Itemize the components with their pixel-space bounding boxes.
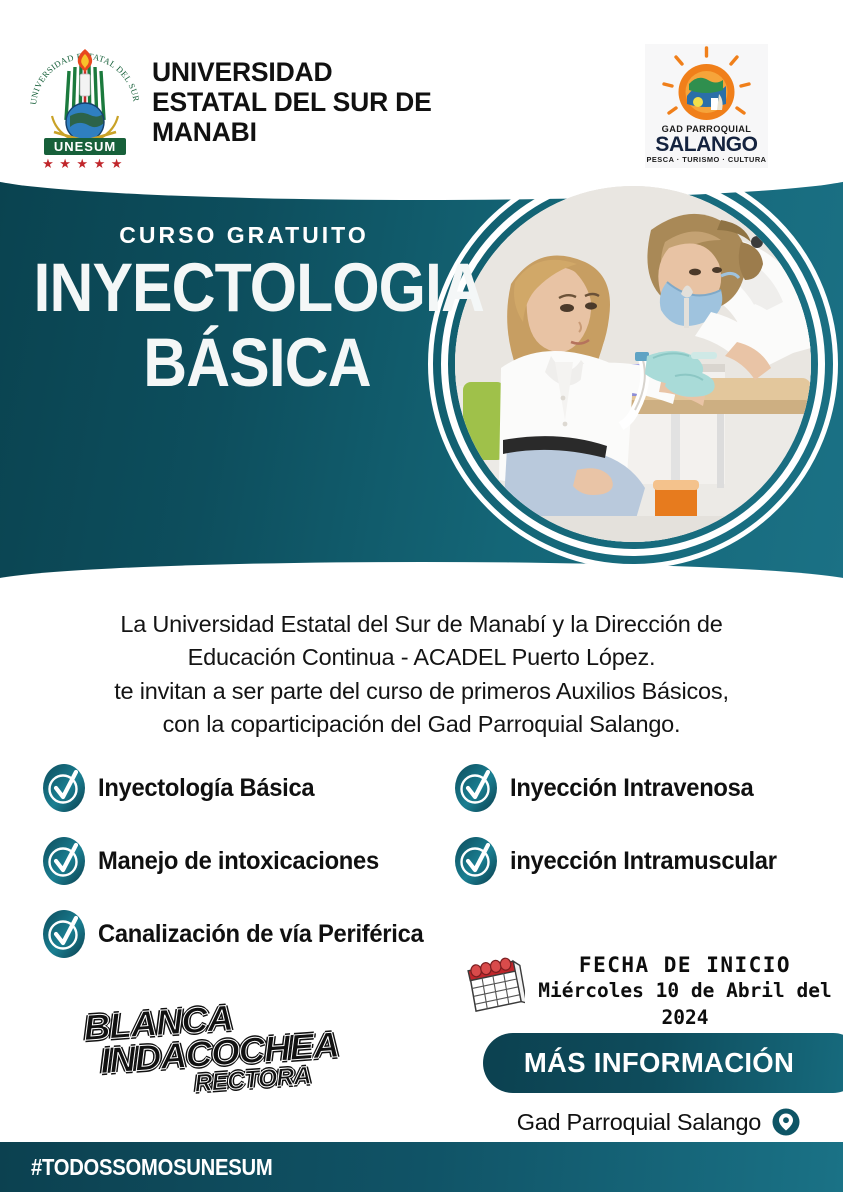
svg-text:★★★★★: ★★★★★ (42, 156, 128, 171)
topic-row: Inyectología Básica Inyección Intravenos… (40, 762, 840, 814)
topic-row: Manejo de intoxicaciones inyección Intra… (40, 835, 840, 887)
svg-text:UNESUM: UNESUM (54, 139, 116, 154)
hero-photo (428, 175, 838, 569)
topic-item: Canalización de vía Periférica (40, 908, 452, 960)
check-circle-icon (40, 835, 88, 887)
footer-hashtag: #TODOSSOMOSUNESUM (31, 1154, 272, 1181)
hero-title-line-1: INYECTOLOGIA (28, 255, 442, 322)
poster-header: UNIVERSIDAD ESTATAL DEL SUR DE MANABI (0, 0, 843, 176)
university-name: UNIVERSIDAD ESTATAL DEL SUR DE MANABI (152, 57, 432, 148)
topic-label: inyección Intramuscular (510, 847, 777, 876)
university-name-line-3: MANABI (152, 117, 432, 147)
topic-label: Inyección Intravenosa (510, 774, 753, 803)
topic-item: Manejo de intoxicaciones (40, 835, 452, 887)
topic-label: Canalización de vía Periférica (98, 920, 423, 949)
calendar-icon (459, 957, 525, 1013)
hero-banner: CURSO GRATUITO INYECTOLOGIA BÁSICA (0, 175, 843, 583)
unesum-logo: UNIVERSIDAD ESTATAL DEL SUR DE MANABI (22, 24, 148, 172)
check-circle-icon (40, 908, 88, 960)
topic-label: Manejo de intoxicaciones (98, 847, 379, 876)
poster-footer: #TODOSSOMOSUNESUM (0, 1142, 843, 1192)
intro-line-4: con la coparticipación del Gad Parroquia… (46, 708, 797, 741)
start-date-day: Miércoles 10 de Abril del 2024 (530, 978, 840, 1031)
university-name-line-2: ESTATAL DEL SUR DE (152, 87, 432, 117)
intro-line-3: te invitan a ser parte del curso de prim… (46, 675, 797, 708)
intro-line-2: Educación Continua - ACADEL Puerto López… (46, 641, 797, 674)
university-name-line-1: UNIVERSIDAD (152, 57, 432, 87)
venue-label: Gad Parroquial Salango (517, 1109, 761, 1136)
check-circle-icon (452, 762, 500, 814)
hero-kicker: CURSO GRATUITO (0, 222, 470, 249)
intro-line-1: La Universidad Estatal del Sur de Manabí… (46, 608, 797, 641)
check-circle-icon (452, 835, 500, 887)
salango-line-2: SALANGO (655, 133, 757, 156)
topic-item: Inyectología Básica (40, 762, 452, 814)
course-topics-list: Inyectología Básica Inyección Intravenos… (40, 762, 840, 981)
location-pin-icon[interactable] (772, 1108, 800, 1136)
salango-line-3: PESCA · TURISMO · CULTURA (646, 155, 766, 164)
photo-clinical-scene (455, 186, 811, 542)
topic-item: inyección Intramuscular (452, 835, 791, 887)
hero-text-block: CURSO GRATUITO INYECTOLOGIA BÁSICA (0, 175, 470, 397)
poster-root: UNIVERSIDAD ESTATAL DEL SUR DE MANABI (0, 0, 843, 1192)
more-info-label: MÁS INFORMACIÓN (524, 1047, 794, 1079)
intro-paragraph: La Universidad Estatal del Sur de Manabí… (46, 608, 797, 741)
more-info-button[interactable]: MÁS INFORMACIÓN (483, 1033, 843, 1093)
topic-label: Inyectología Básica (98, 774, 314, 803)
start-date-title: FECHA DE INICIO (530, 952, 840, 978)
gad-parroquial-salango-logo: GAD PARROQUIAL SALANGO PESCA · TURISMO ·… (645, 44, 768, 168)
topic-item: Inyección Intravenosa (452, 762, 766, 814)
venue-row[interactable]: Gad Parroquial Salango (440, 1105, 800, 1139)
check-circle-icon (40, 762, 88, 814)
hero-title-line-2: BÁSICA (28, 330, 442, 397)
rector-signature: BLANCA INDACOCHEA RECTORA (85, 993, 351, 1101)
